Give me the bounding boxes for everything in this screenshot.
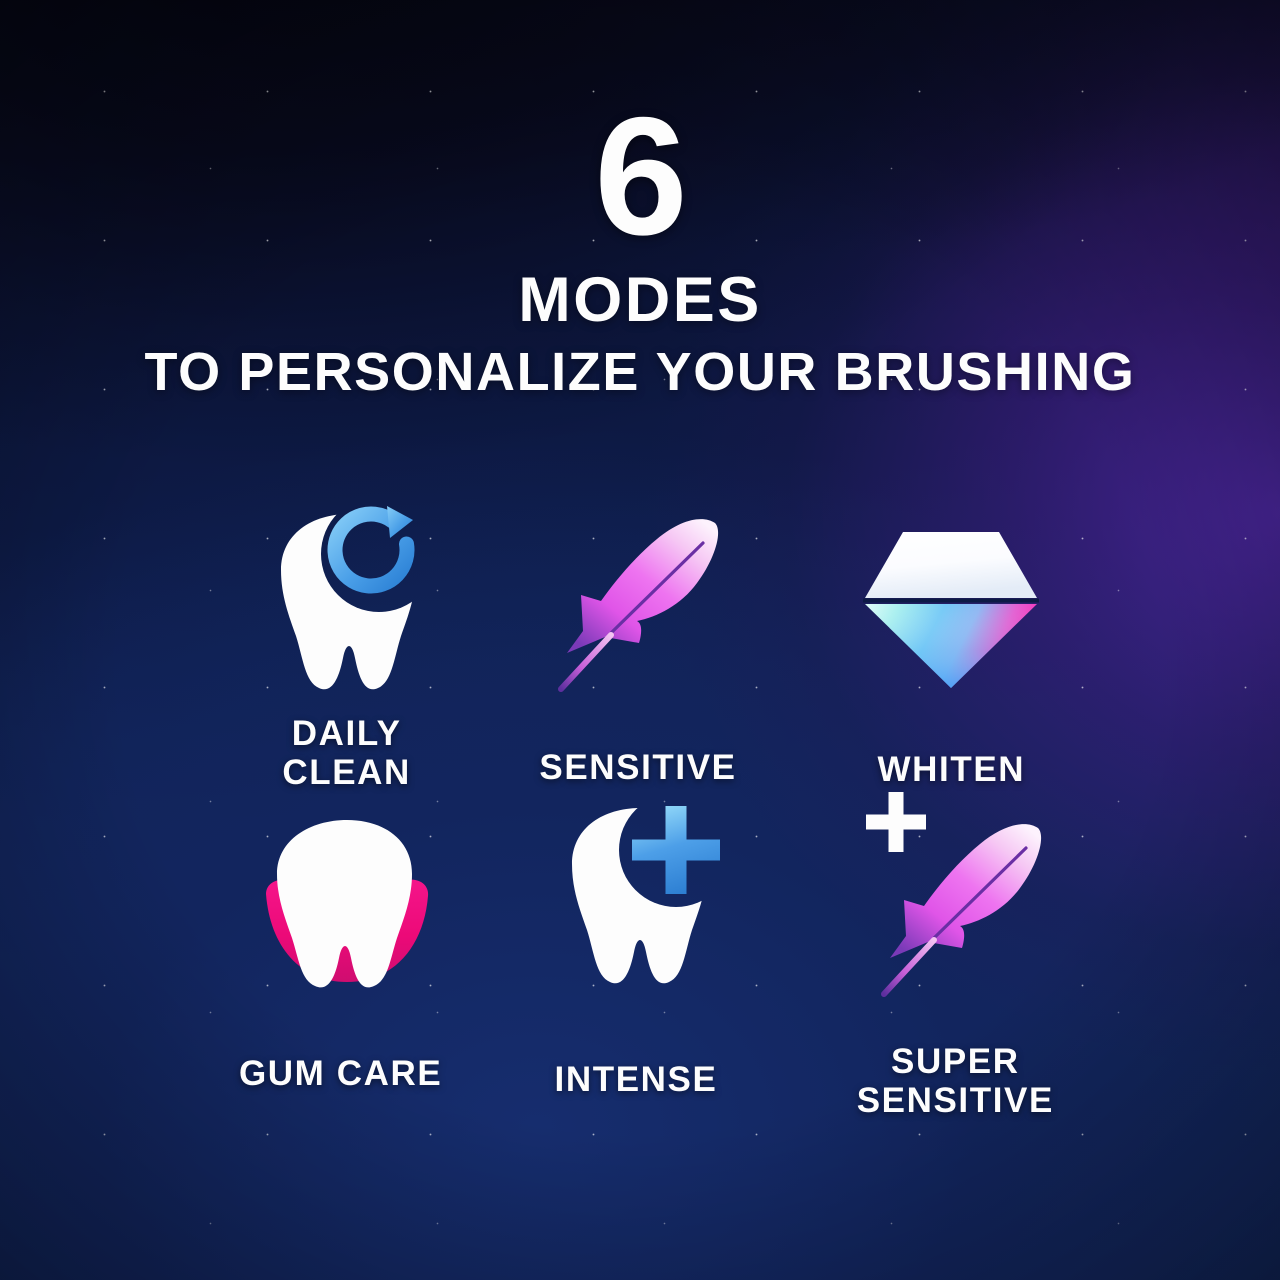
mode-count-number: 6 — [0, 96, 1280, 257]
headline-block: 6 MODES TO PERSONALIZE YOUR BRUSHING — [0, 96, 1280, 402]
diamond-icon — [851, 510, 1051, 710]
mode-item-super-sensitive[interactable]: SUPER SENSITIVE — [793, 788, 1098, 1086]
tooth-gum-icon — [247, 804, 447, 1004]
modes-word: MODES — [0, 267, 1280, 333]
mode-item-daily-clean[interactable]: DAILY CLEAN — [182, 500, 487, 788]
mode-label-daily-clean: DAILY CLEAN — [282, 714, 411, 792]
mode-label-intense: INTENSE — [555, 1060, 718, 1099]
feather-plus-icon — [857, 792, 1057, 992]
mode-label-gum-care: GUM CARE — [239, 1054, 442, 1093]
feather-icon — [542, 506, 742, 706]
mode-label-whiten: WHITEN — [878, 750, 1026, 789]
tooth-plus-icon — [540, 798, 740, 998]
mode-item-intense[interactable]: INTENSE — [487, 788, 792, 1086]
headline-tagline: TO PERSONALIZE YOUR BRUSHING — [0, 343, 1280, 401]
mode-item-sensitive[interactable]: SENSITIVE — [487, 500, 792, 788]
mode-item-gum-care[interactable]: GUM CARE — [182, 788, 487, 1086]
modes-grid: DAILY CLEAN — [182, 500, 1098, 1086]
tooth-refresh-icon — [249, 504, 449, 700]
mode-item-whiten[interactable]: WHITEN — [793, 500, 1098, 788]
mode-poster: 6 MODES TO PERSONALIZE YOUR BRUSHING — [0, 0, 1280, 1280]
mode-label-sensitive: SENSITIVE — [539, 748, 736, 787]
mode-label-super-sensitive: SUPER SENSITIVE — [857, 1042, 1054, 1120]
